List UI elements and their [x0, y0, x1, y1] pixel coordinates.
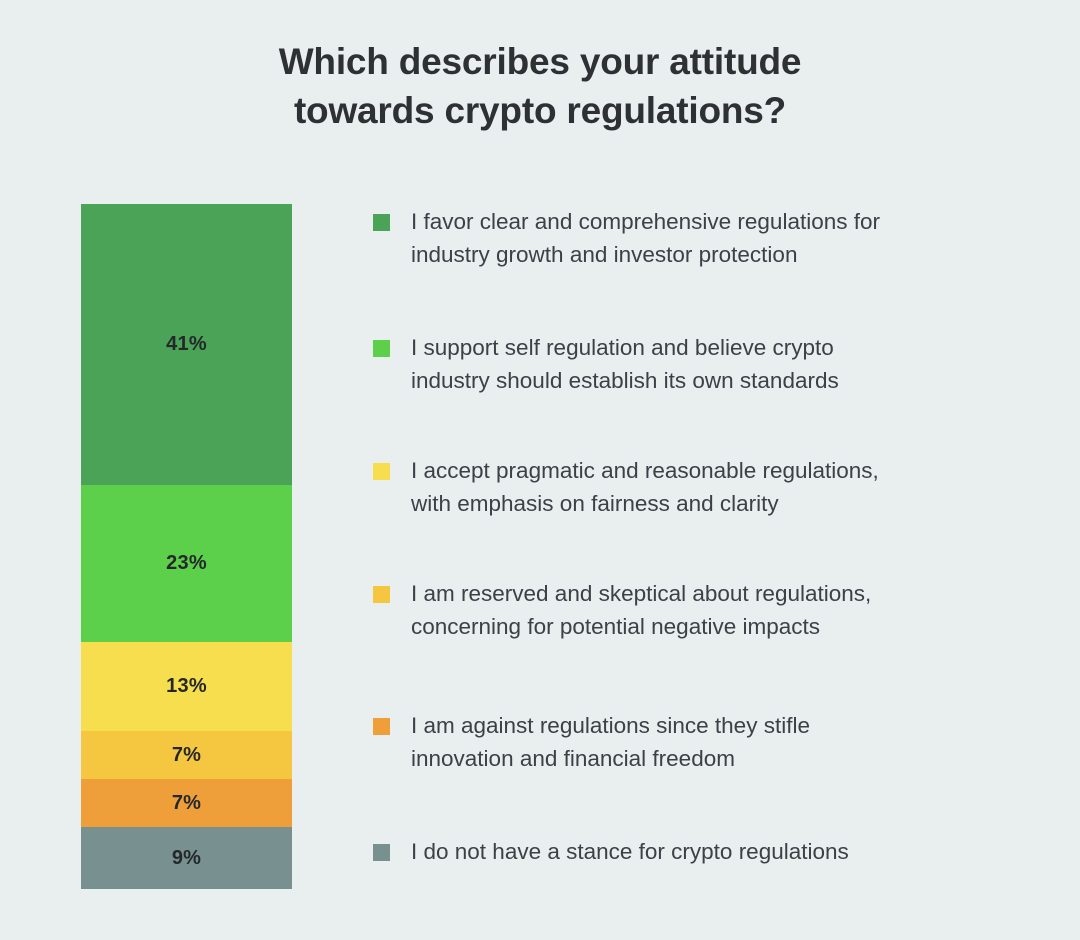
chart-canvas: Which describes your attitude towards cr… — [0, 0, 1080, 940]
legend-item[interactable]: I am against regulations since they stif… — [373, 710, 1013, 836]
legend-item[interactable]: I favor clear and comprehensive regulati… — [373, 206, 1013, 332]
legend-item[interactable]: I support self regulation and believe cr… — [373, 332, 1013, 455]
bar-segment-value: 13% — [166, 675, 207, 698]
bar-segment[interactable]: 9% — [81, 827, 292, 889]
chart-title: Which describes your attitude towards cr… — [0, 38, 1080, 136]
legend-swatch-icon — [373, 463, 390, 480]
legend-swatch-icon — [373, 718, 390, 735]
bar-segment[interactable]: 7% — [81, 779, 292, 827]
legend-item-label: I am reserved and skeptical about regula… — [411, 578, 871, 643]
bar-segment-value: 9% — [172, 847, 201, 870]
bar-segment[interactable]: 41% — [81, 204, 292, 485]
legend-swatch-icon — [373, 214, 390, 231]
legend-item[interactable]: I accept pragmatic and reasonable regula… — [373, 455, 1013, 578]
legend-item-label: I support self regulation and believe cr… — [411, 332, 839, 397]
legend-item[interactable]: I do not have a stance for crypto regula… — [373, 836, 1013, 869]
stacked-bar-chart: 41% 23% 13% 7% 7% 9% — [81, 204, 292, 889]
legend-item-label: I favor clear and comprehensive regulati… — [411, 206, 880, 271]
legend-item-label: I accept pragmatic and reasonable regula… — [411, 455, 879, 520]
bar-segment[interactable]: 7% — [81, 731, 292, 779]
bar-segment-value: 23% — [166, 552, 207, 575]
legend-item-label: I do not have a stance for crypto regula… — [411, 836, 849, 869]
bar-segment-value: 41% — [166, 333, 207, 356]
legend-swatch-icon — [373, 340, 390, 357]
chart-legend: I favor clear and comprehensive regulati… — [373, 206, 1013, 869]
legend-swatch-icon — [373, 586, 390, 603]
legend-item-label: I am against regulations since they stif… — [411, 710, 810, 775]
bar-segment[interactable]: 23% — [81, 485, 292, 643]
bar-segment-value: 7% — [172, 744, 201, 767]
bar-segment-value: 7% — [172, 792, 201, 815]
legend-item[interactable]: I am reserved and skeptical about regula… — [373, 578, 1013, 710]
legend-swatch-icon — [373, 844, 390, 861]
bar-segment[interactable]: 13% — [81, 642, 292, 731]
